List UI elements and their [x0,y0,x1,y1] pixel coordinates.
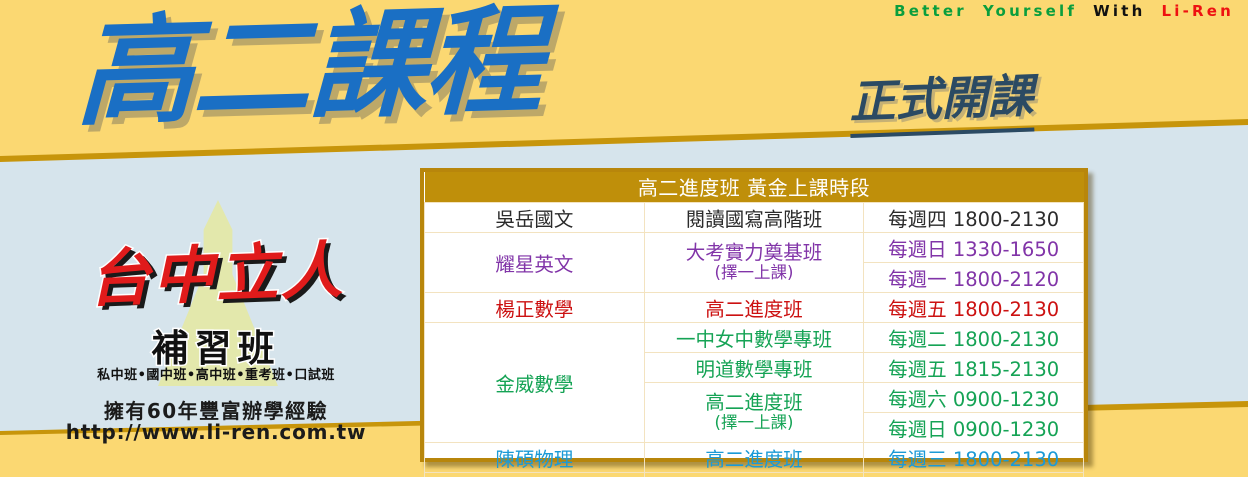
cell-class-name: 大考實力奠基班(擇一上課) [644,232,864,292]
schedule-header: 高二進度班 黃金上課時段 [425,172,1084,202]
cell-teacher: 吳岳國文 [425,202,645,232]
table-row: 金威數學一中女中數學專班每週二 1800-2130 [425,322,1084,352]
tagline-word-yourself: Yourself [983,2,1077,20]
cell-teacher: 王皓化學 [425,472,645,477]
logo-name: 台中立人 [35,218,398,321]
poster-canvas: BetterYourselfWithLi-Ren 高二課程 正式開課 台中立人 … [0,0,1248,477]
schedule-table: 高二進度班 黃金上課時段 吳岳國文閱讀國寫高階班每週四 1800-2130耀星英… [420,168,1088,462]
table-row: 陳碩物理高二進度班每週三 1800-2130 [425,442,1084,472]
cell-class-name: 高二進度班 [644,472,864,477]
table-row: 楊正數學高二進度班每週五 1800-2130 [425,292,1084,322]
cell-time-slot: 每週三 1800-2130 [864,442,1084,472]
cell-class-name: 高二進度班 [644,292,864,322]
cell-time-slot: 每週一 1800-2120 [864,262,1084,292]
tagline-word-liren: Li-Ren [1161,2,1234,20]
logo-programs: 私中班•國中班•高中班•重考班•口試班 [36,364,396,383]
cell-time-slot: 每週五 1815-2130 [864,352,1084,382]
cell-time-slot: 每週二 1800-2130 [864,322,1084,352]
cell-teacher: 耀星英文 [425,232,645,292]
cell-class-name: 高二進度班 [644,442,864,472]
cell-time-slot: 每週四 1800-2130 [864,202,1084,232]
tagline-word-better: Better [894,2,967,20]
cell-class-name: 閱讀國寫高階班 [644,202,864,232]
table-row: 吳岳國文閱讀國寫高階班每週四 1800-2130 [425,202,1084,232]
cell-class-name: 明道數學專班 [644,352,864,382]
cell-class-name: 高二進度班(擇一上課) [644,382,864,442]
cell-teacher: 楊正數學 [425,292,645,322]
cell-time-slot: 每週日 0900-1230 [864,412,1084,442]
cell-time-slot: 每週五 1800-2130 [864,292,1084,322]
cell-time-slot: 每週六 1800-2115 [864,472,1084,477]
table-row: 耀星英文大考實力奠基班(擇一上課)每週日 1330-1650 [425,232,1084,262]
tagline-word-with: With [1093,2,1145,20]
cell-time-slot: 每週六 0900-1230 [864,382,1084,412]
tagline: BetterYourselfWithLi-Ren [894,2,1234,20]
logo: 台中立人 補習班 私中班•國中班•高中班•重考班•口試班 擁有60年豐富辦學經驗… [36,196,396,426]
page-title: 高二課程 [75,1,542,132]
page-subtitle: 正式開課 [848,60,1034,138]
table-row: 王皓化學高二進度班每週六 1800-2115 [425,472,1084,477]
cell-time-slot: 每週日 1330-1650 [864,232,1084,262]
cell-teacher: 金威數學 [425,322,645,442]
cell-class-name: 一中女中數學專班 [644,322,864,352]
logo-website-url[interactable]: http://www.li-ren.com.tw [36,420,396,444]
cell-teacher: 陳碩物理 [425,442,645,472]
